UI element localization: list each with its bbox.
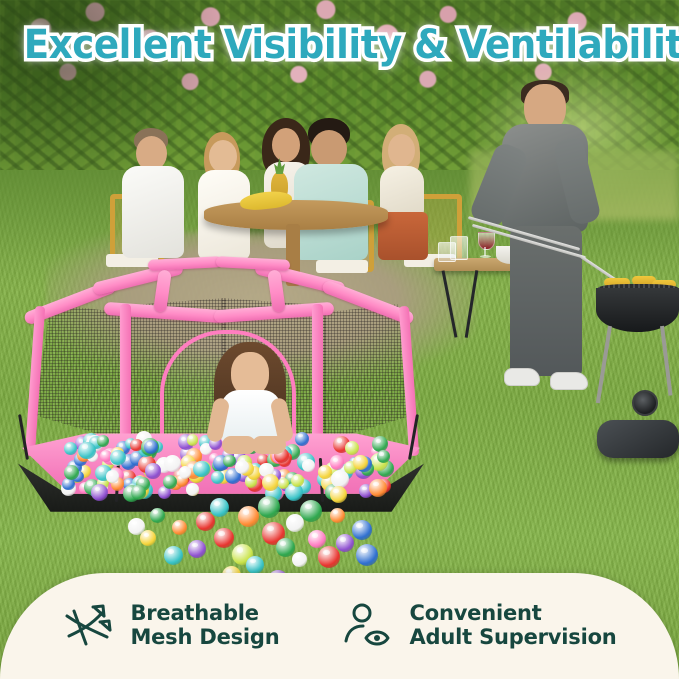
product-marketing-image: Excellent Visibility & Ventilability Bre…: [0, 0, 679, 679]
play-ball: [188, 540, 206, 558]
play-ball: [276, 538, 295, 557]
play-ball: [150, 508, 165, 523]
feature-label: Breathable Mesh Design: [130, 602, 279, 649]
play-ball: [128, 518, 145, 535]
play-ball: [330, 508, 345, 523]
play-ball: [210, 498, 229, 517]
play-ball: [238, 506, 259, 527]
feature-label-line1: Breathable: [130, 602, 279, 626]
feature-banner: Breathable Mesh Design Convenient Adult …: [0, 573, 679, 679]
play-ball: [336, 534, 354, 552]
play-ball: [318, 546, 340, 568]
airflow-mesh-icon: [62, 599, 116, 653]
adult-supervision-eye-icon: [342, 599, 396, 653]
play-ball: [300, 500, 322, 522]
feature-breathable-mesh: Breathable Mesh Design: [62, 599, 279, 653]
play-ball: [356, 544, 378, 566]
play-ball: [258, 496, 280, 518]
feature-label-line1: Convenient: [410, 602, 617, 626]
page-title: Excellent Visibility & Ventilability: [24, 22, 655, 68]
play-ball: [164, 546, 183, 565]
feature-label-line2: Mesh Design: [130, 626, 279, 650]
play-ball: [214, 528, 234, 548]
feature-label: Convenient Adult Supervision: [410, 602, 617, 649]
play-ball: [352, 520, 372, 540]
play-ball: [196, 512, 215, 531]
feature-label-line2: Adult Supervision: [410, 626, 617, 650]
play-ball: [292, 552, 307, 567]
play-ball: [308, 530, 326, 548]
play-ball: [172, 520, 187, 535]
feature-adult-supervision: Convenient Adult Supervision: [342, 599, 617, 653]
play-ball: [246, 556, 264, 574]
